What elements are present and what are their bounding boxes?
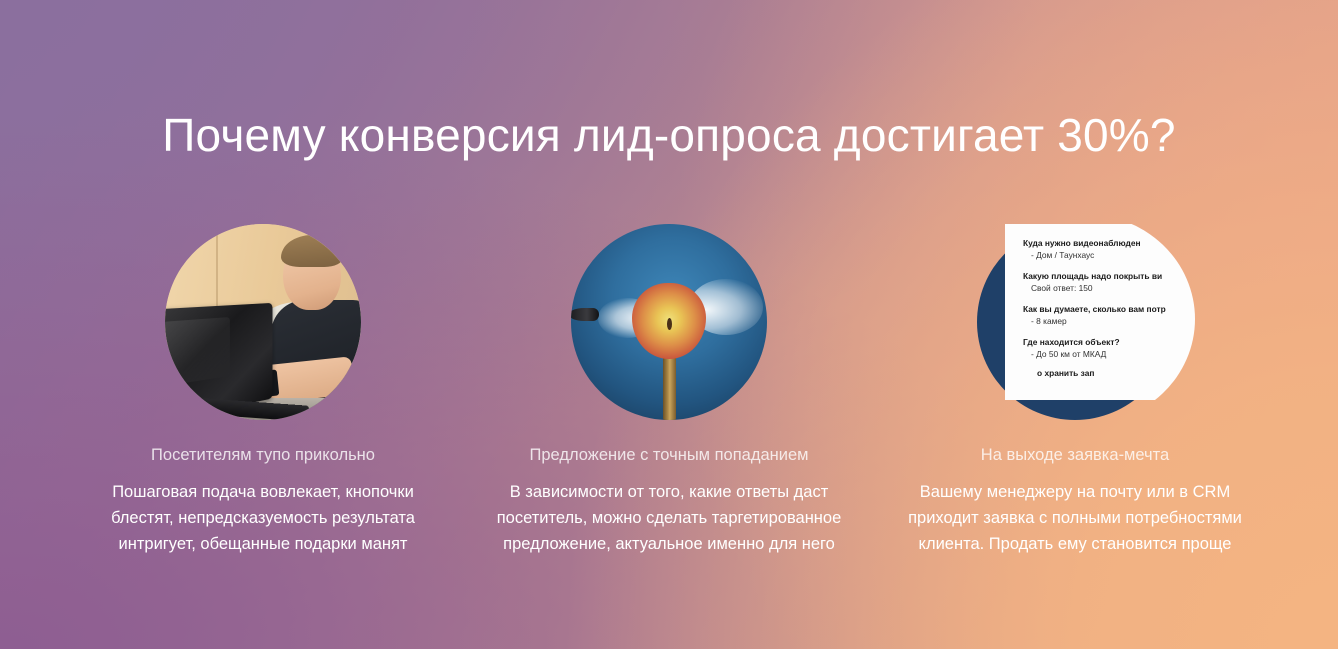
- survey-answer: - Дом / Таунхаус: [1031, 250, 1195, 261]
- survey-card: Куда нужно видеонаблюден - Дом / Таунхау…: [1005, 224, 1195, 400]
- benefit-heading: На выходе заявка-мечта: [981, 446, 1169, 465]
- survey-question: Куда нужно видеонаблюден: [1023, 238, 1195, 249]
- survey-answer: - До 50 км от МКАД: [1031, 349, 1195, 360]
- survey-question: Как вы думаете, сколько вам потр: [1023, 304, 1195, 315]
- apple-core-hole: [667, 318, 672, 330]
- benefit-body: В зависимости от того, какие ответы даст…: [486, 479, 852, 557]
- page-title: Почему конверсия лид-опроса достигает 30…: [0, 109, 1338, 162]
- survey-answer: Свой ответ: 150: [1031, 283, 1195, 294]
- benefit-column-visitors-fun: Посетителям тупо прикольно Пошаговая под…: [60, 224, 466, 557]
- screen-glare: [165, 317, 230, 388]
- bullet-shape: [571, 308, 599, 321]
- survey-answers-card: Куда нужно видеонаблюден - Дом / Таунхау…: [977, 224, 1173, 420]
- bullet-through-apple-photo: [571, 224, 767, 420]
- benefit-body: Пошаговая подача вовлекает, кнопочки бле…: [80, 479, 446, 557]
- benefit-heading: Предложение с точным попаданием: [530, 446, 809, 465]
- man-at-laptop-photo: [165, 224, 361, 420]
- benefit-heading: Посетителям тупо прикольно: [151, 446, 375, 465]
- benefits-columns: Посетителям тупо прикольно Пошаговая под…: [0, 224, 1338, 557]
- circle-mask: [571, 224, 767, 420]
- survey-question-truncated: о хранить зап: [1037, 368, 1195, 379]
- survey-answer: - 8 камер: [1031, 316, 1195, 327]
- benefit-body: Вашему менеджеру на почту или в CRM прих…: [892, 479, 1258, 557]
- survey-card-mask: Куда нужно видеонаблюден - Дом / Таунхау…: [975, 214, 1195, 424]
- circle-mask: [165, 224, 361, 420]
- benefit-column-dream-lead: Куда нужно видеонаблюден - Дом / Таунхау…: [872, 224, 1278, 557]
- survey-question: Какую площадь надо покрыть ви: [1023, 271, 1195, 282]
- hero-section: Почему конверсия лид-опроса достигает 30…: [0, 0, 1338, 649]
- benefit-column-precise-offer: Предложение с точным попаданием В зависи…: [466, 224, 872, 557]
- survey-question: Где находится объект?: [1023, 337, 1195, 348]
